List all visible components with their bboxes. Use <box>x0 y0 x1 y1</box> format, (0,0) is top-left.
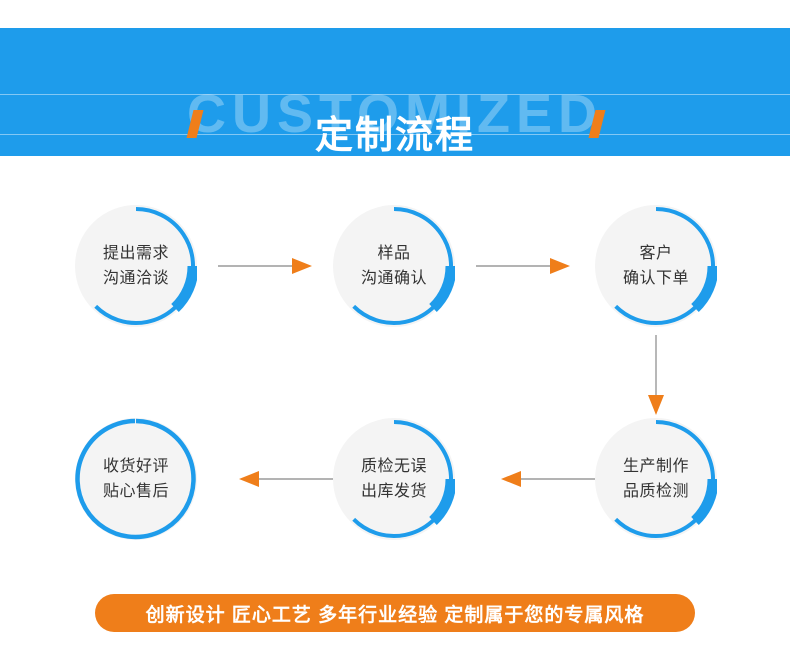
flow-arrow-1-2-icon <box>218 249 318 283</box>
flow-arrow-5-6-icon <box>233 462 333 496</box>
flow-node-6-line1: 收货好评 <box>103 454 169 479</box>
flow-node-6-line2: 贴心售后 <box>103 479 169 504</box>
flow-node-1-line1: 提出需求 <box>103 241 169 266</box>
flow-node-3-line2: 确认下单 <box>623 266 689 291</box>
flow-node-1-line2: 沟通洽谈 <box>103 266 169 291</box>
flow-node-3-label: 客户 确认下单 <box>623 241 689 291</box>
flow-node-4-line2: 品质检测 <box>623 479 689 504</box>
header-banner: CUSTOMIZED 定制流程 <box>0 28 790 156</box>
flow-node-3-line1: 客户 <box>623 241 689 266</box>
flow-arrow-3-4-icon <box>639 335 673 425</box>
flow-node-5-label: 质检无误 出库发货 <box>361 454 427 504</box>
flow-node-4: 生产制作 品质检测 <box>595 418 717 540</box>
flow-arrow-4-5-icon <box>495 462 595 496</box>
flow-node-4-label: 生产制作 品质检测 <box>623 454 689 504</box>
flow-node-5-line1: 质检无误 <box>361 454 427 479</box>
page-title: 定制流程 <box>0 112 790 156</box>
flow-node-3: 客户 确认下单 <box>595 205 717 327</box>
flow-arrow-2-3-icon <box>476 249 576 283</box>
flow-node-1-label: 提出需求 沟通洽谈 <box>103 241 169 291</box>
flow-node-2: 样品 沟通确认 <box>333 205 455 327</box>
flow-node-1: 提出需求 沟通洽谈 <box>75 205 197 327</box>
footer-slogan-text: 创新设计 匠心工艺 多年行业经验 定制属于您的专属风格 <box>146 600 645 627</box>
flow-node-5: 质检无误 出库发货 <box>333 418 455 540</box>
flow-node-5-line2: 出库发货 <box>361 479 427 504</box>
flow-node-2-line1: 样品 <box>361 241 427 266</box>
flow-node-2-label: 样品 沟通确认 <box>361 241 427 291</box>
flow-node-6-label: 收货好评 贴心售后 <box>103 454 169 504</box>
flow-node-4-line1: 生产制作 <box>623 454 689 479</box>
footer-slogan-bar: 创新设计 匠心工艺 多年行业经验 定制属于您的专属风格 <box>95 594 695 632</box>
flow-node-6: 收货好评 贴心售后 <box>75 418 197 540</box>
flow-node-2-line2: 沟通确认 <box>361 266 427 291</box>
